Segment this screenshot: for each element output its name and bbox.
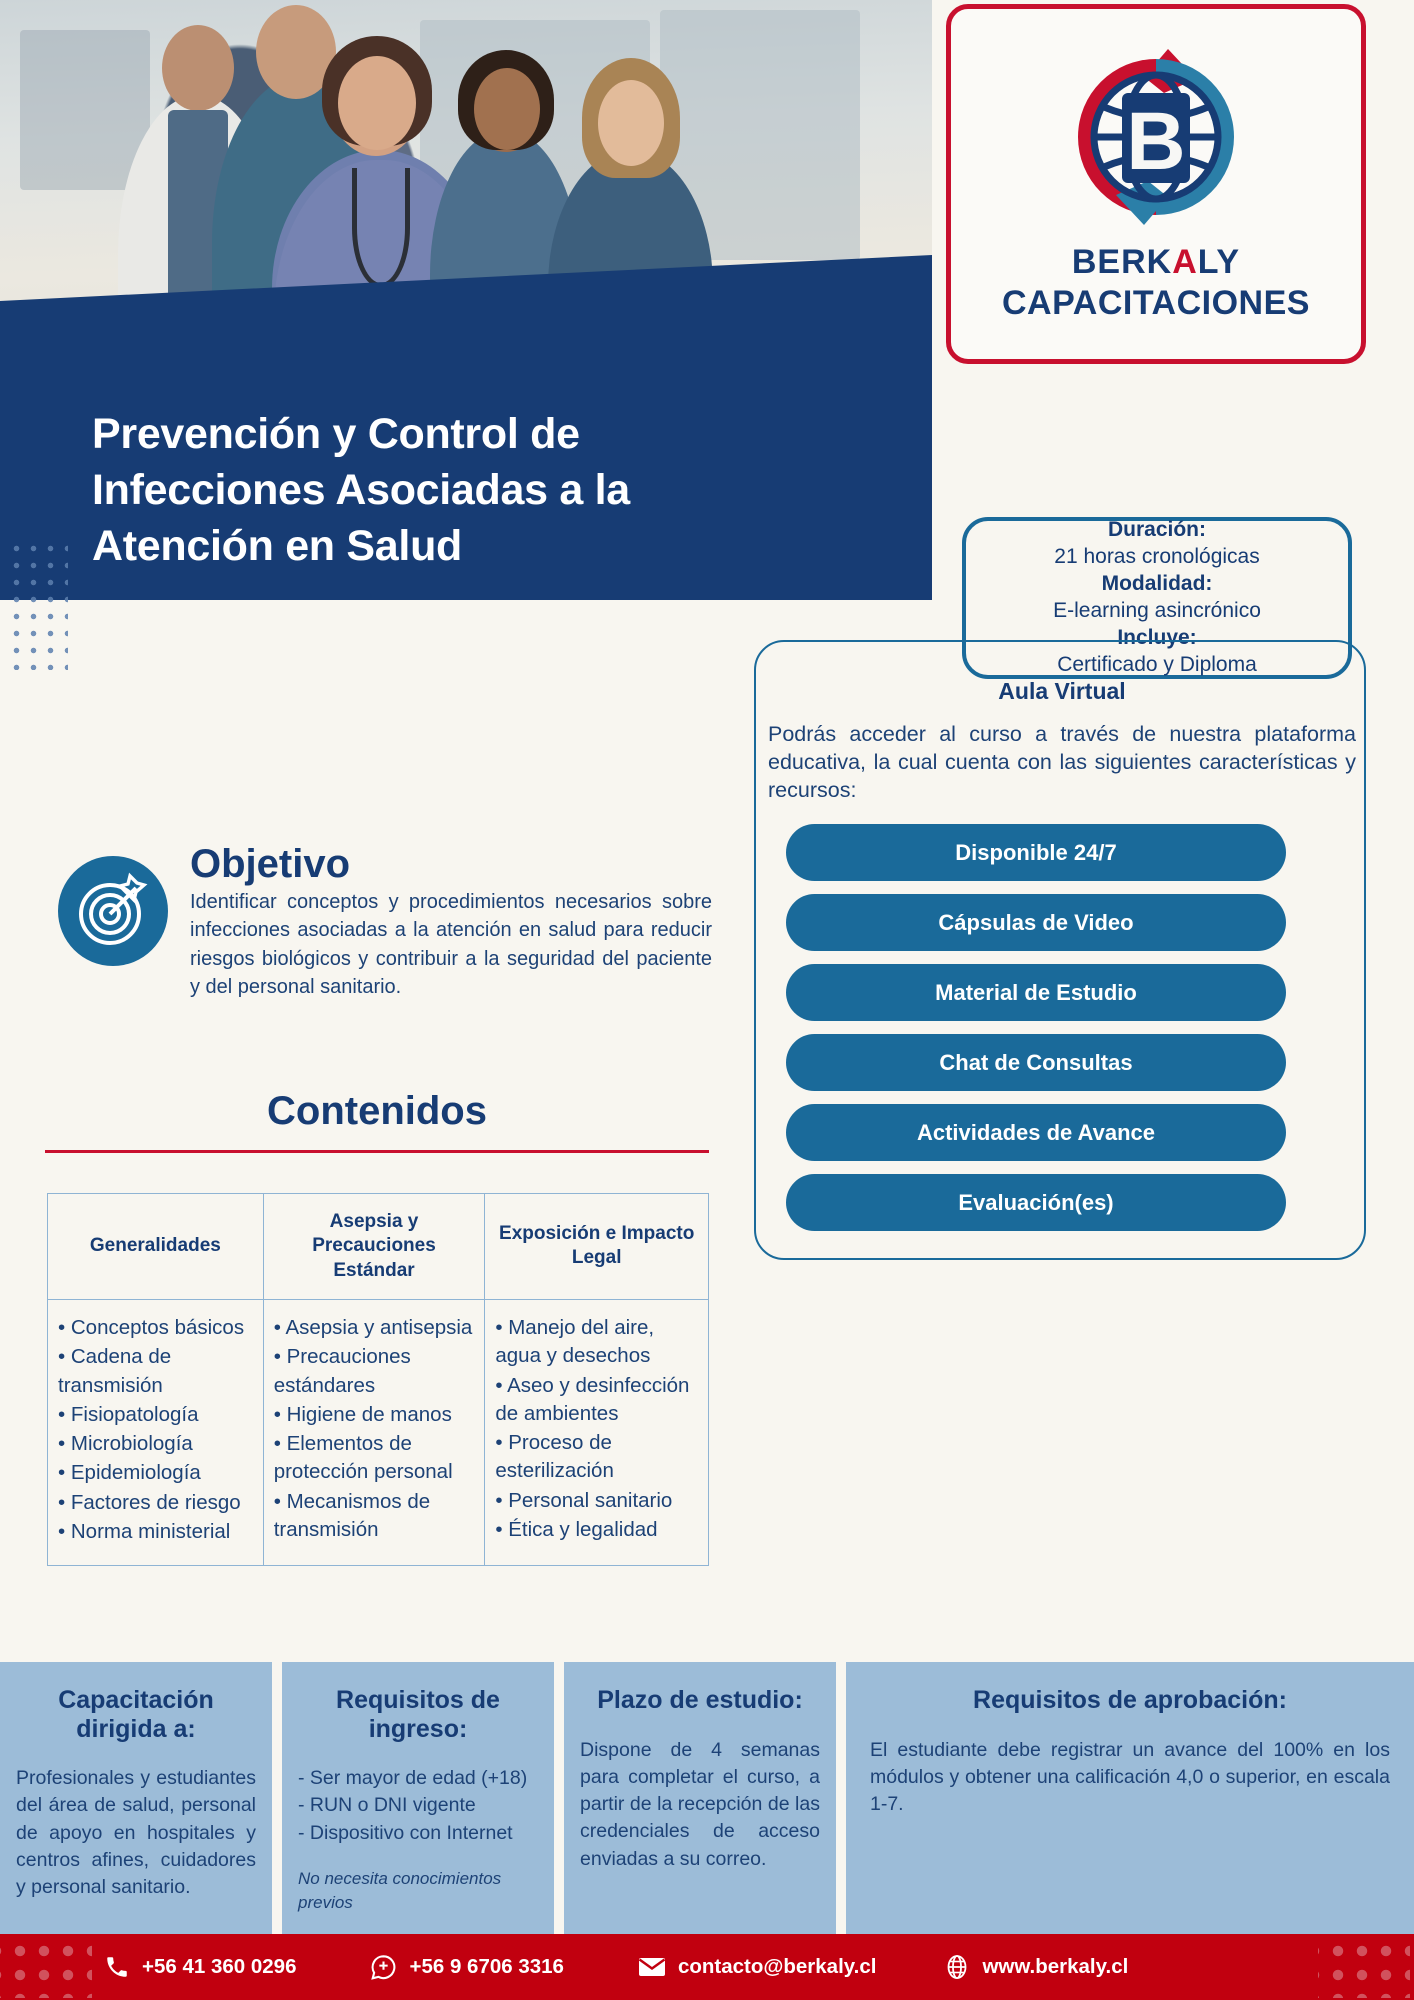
contents-table: Generalidades Asepsia y Precauciones Est… (47, 1193, 709, 1566)
list-item: • Microbiología (58, 1430, 253, 1458)
title-panel-wrap: Prevención y Control de Infecciones Asoc… (0, 255, 932, 600)
footer-email-text: contacto@berkaly.cl (678, 1955, 876, 1979)
list-item: • Epidemiología (58, 1459, 253, 1487)
bottom-column-approval: Requisitos de aprobación: El estudiante … (846, 1662, 1414, 1934)
whatsapp-icon (370, 1954, 397, 1981)
contents-col-header-2: Asepsia y Precauciones Estándar (263, 1194, 485, 1300)
feature-pill-capsulas-video[interactable]: Cápsulas de Video (786, 894, 1286, 951)
contents-cell-3: • Manejo del aire, agua y desechos• Aseo… (485, 1299, 709, 1565)
objective-heading: Objetivo (190, 842, 350, 887)
footer-whatsapp[interactable]: +56 9 6706 3316 (370, 1954, 563, 1981)
list-item: • Norma ministerial (58, 1518, 253, 1546)
list-item: • Conceptos básicos (58, 1314, 253, 1342)
contents-heading: Contenidos (45, 1089, 709, 1134)
list-item: • Precauciones estándares (274, 1343, 475, 1400)
dot-grid-decoration (8, 540, 68, 670)
modality-value: E-learning asincrónico (1053, 598, 1261, 625)
contents-table-body-row: • Conceptos básicos• Cadena de transmisi… (48, 1299, 709, 1565)
contents-col-header-3: Exposición e Impacto Legal (485, 1194, 709, 1300)
feature-pill-disponible[interactable]: Disponible 24/7 (786, 824, 1286, 881)
list-item: • Elementos de protección personal (274, 1430, 475, 1487)
person-1-head (162, 25, 234, 111)
bottom-column-title-4: Requisitos de aprobación: (870, 1686, 1390, 1715)
person-5-face (598, 80, 664, 166)
flyer-page: Prevención y Control de Infecciones Asoc… (0, 0, 1414, 2000)
contents-divider (45, 1150, 709, 1153)
brand-berk: BERK (1072, 243, 1172, 281)
contents-list-2: • Asepsia y antisepsia• Precauciones est… (274, 1314, 475, 1544)
brand-a-accent: A (1172, 243, 1198, 281)
feature-pill-actividades-avance[interactable]: Actividades de Avance (786, 1104, 1286, 1161)
phone-icon (104, 1954, 130, 1980)
contents-list-3: • Manejo del aire, agua y desechos• Aseo… (495, 1314, 698, 1544)
list-item: • Fisiopatología (58, 1401, 253, 1429)
contents-cell-1: • Conceptos básicos• Cadena de transmisi… (48, 1299, 264, 1565)
virtual-classroom-intro: Podrás acceder al curso a través de nues… (768, 720, 1356, 804)
contents-list-1: • Conceptos básicos• Cadena de transmisi… (58, 1314, 253, 1546)
footer-website[interactable]: www.berkaly.cl (944, 1954, 1128, 1980)
contents-table-header-row: Generalidades Asepsia y Precauciones Est… (48, 1194, 709, 1300)
bottom-column-body-2: - Ser mayor de edad (+18) - RUN o DNI vi… (298, 1765, 538, 1847)
feature-pill-chat-consultas[interactable]: Chat de Consultas (786, 1034, 1286, 1091)
footer-email[interactable]: contacto@berkaly.cl (638, 1955, 876, 1979)
footer-phone-text: +56 41 360 0296 (142, 1955, 296, 1979)
feature-pill-material-estudio[interactable]: Material de Estudio (786, 964, 1286, 1021)
list-item: • Higiene de manos (274, 1401, 475, 1429)
bottom-column-title-3: Plazo de estudio: (580, 1686, 820, 1715)
list-item: • Factores de riesgo (58, 1489, 253, 1517)
person-3-face (338, 56, 416, 150)
footer-dots-right (1318, 1936, 1410, 1998)
virtual-classroom-heading: Aula Virtual (756, 678, 1368, 705)
bottom-column-title-2: Requisitos de ingreso: (298, 1686, 538, 1743)
contents-col-header-1: Generalidades (48, 1194, 264, 1300)
list-item: • Mecanismos de transmisión (274, 1488, 475, 1545)
brand-name-line1: BERKALY (1072, 243, 1240, 282)
bottom-column-note-2: No necesita conocimientos previos (298, 1867, 538, 1915)
contents-cell-2: • Asepsia y antisepsia• Precauciones est… (263, 1299, 485, 1565)
brand-ly: LY (1198, 243, 1240, 281)
duration-value: 21 horas cronológicas (1054, 544, 1259, 571)
person-4-face (474, 68, 540, 150)
svg-text:B: B (1126, 96, 1185, 187)
target-icon (74, 872, 152, 950)
bottom-column-audience: Capacitación dirigida a: Profesionales y… (0, 1662, 272, 1934)
list-item: • Personal sanitario (495, 1487, 698, 1515)
list-item: • Cadena de transmisión (58, 1343, 253, 1400)
footer-contact-bar: +56 41 360 0296 +56 9 6706 3316 contacto… (0, 1934, 1414, 2000)
modality-label: Modalidad: (1102, 571, 1213, 598)
objective-text: Identificar conceptos y procedimientos n… (190, 888, 712, 1002)
list-item: • Proceso de esterilización (495, 1429, 698, 1486)
footer-whatsapp-text: +56 9 6706 3316 (409, 1955, 563, 1979)
list-item: • Asepsia y antisepsia (274, 1314, 475, 1342)
list-item: • Ética y legalidad (495, 1516, 698, 1544)
bottom-column-title-1: Capacitación dirigida a: (16, 1686, 256, 1743)
bottom-column-body-3: Dispone de 4 semanas para completar el c… (580, 1737, 820, 1873)
bottom-column-body-1: Profesionales y estudiantes del área de … (16, 1765, 256, 1901)
virtual-classroom-card: Aula Virtual Podrás acceder al curso a t… (754, 640, 1366, 1260)
globe-icon (944, 1954, 970, 1980)
list-item: • Aseo y desinfección de ambientes (495, 1372, 698, 1429)
bottom-column-deadline: Plazo de estudio: Dispone de 4 semanas p… (564, 1662, 836, 1934)
footer-dots-left (0, 1936, 92, 1998)
logo-card: B BERKALY CAPACITACIONES (946, 4, 1366, 364)
mail-icon (638, 1956, 666, 1978)
feature-pill-evaluaciones[interactable]: Evaluación(es) (786, 1174, 1286, 1231)
list-item: • Manejo del aire, agua y desechos (495, 1314, 698, 1371)
footer-website-text: www.berkaly.cl (982, 1955, 1128, 1979)
brand-name-line2: CAPACITACIONES (1002, 284, 1310, 323)
bottom-column-requirements: Requisitos de ingreso: - Ser mayor de ed… (282, 1662, 554, 1934)
duration-label: Duración: (1108, 517, 1206, 544)
page-title: Prevención y Control de Infecciones Asoc… (92, 407, 792, 575)
berkaly-globe-logo-icon: B (1056, 37, 1256, 237)
objective-target-icon-circle (58, 856, 168, 966)
bottom-column-body-4: El estudiante debe registrar un avance d… (870, 1737, 1390, 1819)
footer-phone[interactable]: +56 41 360 0296 (104, 1954, 296, 1980)
